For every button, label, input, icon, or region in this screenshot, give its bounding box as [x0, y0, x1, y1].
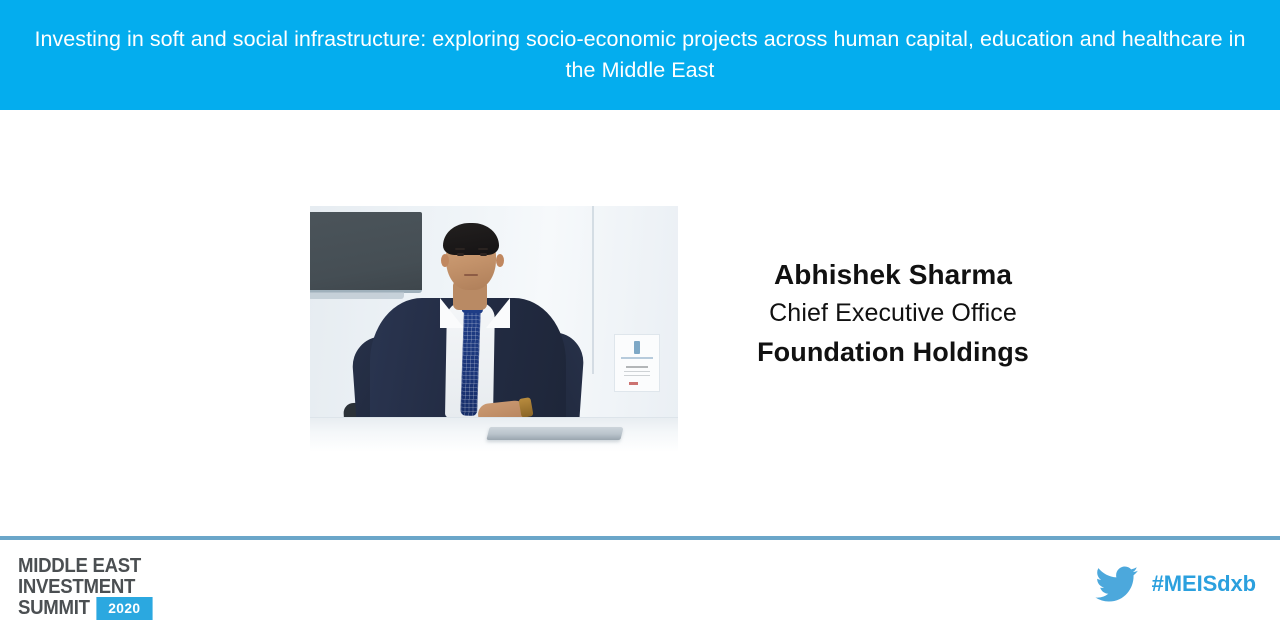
photo-person-eyebrow-left — [455, 248, 465, 250]
photo-person-collar-right — [486, 298, 510, 328]
social-handle-group[interactable]: #MEISdxb — [1095, 566, 1256, 602]
photo-person-ear-left — [441, 254, 449, 267]
event-hashtag[interactable]: #MEISdxb — [1152, 571, 1256, 597]
photo-person-hair — [443, 223, 499, 255]
twitter-bird-icon[interactable] — [1095, 566, 1139, 602]
photo-person — [310, 206, 678, 452]
event-logo-year-badge: 2020 — [96, 597, 152, 620]
photo-person-eyebrow-right — [478, 248, 488, 250]
footer-bar: MIDDLE EAST INVESTMENT SUMMIT 2020 #MEIS… — [0, 540, 1280, 640]
photo-person-eye-right — [480, 253, 487, 256]
speaker-details: Abhishek Sharma Chief Executive Office F… — [703, 255, 1083, 372]
event-logo-line-3-row: SUMMIT 2020 — [18, 597, 185, 620]
event-logo: MIDDLE EAST INVESTMENT SUMMIT 2020 — [18, 556, 198, 620]
photo-person-eye-left — [457, 253, 464, 256]
photo-laptop — [486, 427, 623, 440]
speaker-name: Abhishek Sharma — [703, 255, 1083, 294]
event-logo-line-1: MIDDLE EAST — [18, 556, 185, 577]
slide-body: Abhishek Sharma Chief Executive Office F… — [0, 110, 1280, 537]
event-logo-line-3: SUMMIT — [18, 598, 90, 619]
photo-person-mouth — [464, 274, 478, 276]
session-title-banner: Investing in soft and social infrastruct… — [0, 0, 1280, 110]
speaker-photo — [310, 206, 678, 452]
speaker-role: Chief Executive Office — [703, 294, 1083, 333]
event-logo-line-2: INVESTMENT — [18, 577, 185, 598]
speaker-company: Foundation Holdings — [703, 333, 1083, 372]
session-title: Investing in soft and social infrastruct… — [20, 24, 1260, 86]
photo-person-ear-right — [496, 254, 504, 267]
